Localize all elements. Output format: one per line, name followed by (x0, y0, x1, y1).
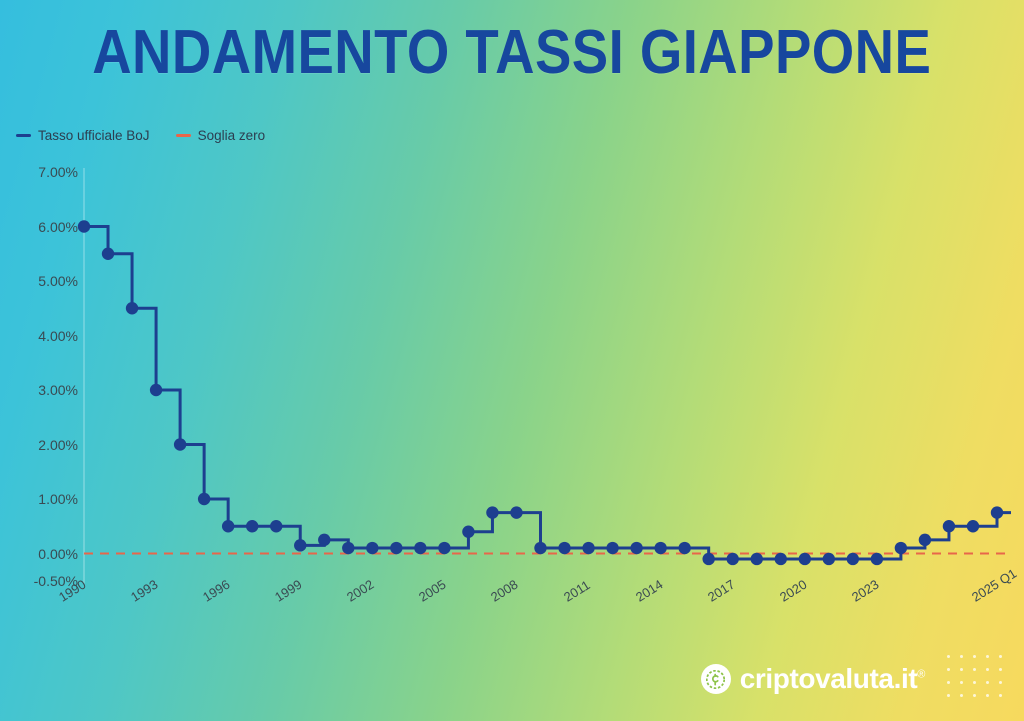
data-point-marker[interactable] (342, 542, 354, 554)
watermark-registered-mark: ® (917, 669, 925, 681)
data-point-marker[interactable] (871, 553, 883, 565)
data-point-marker[interactable] (751, 553, 763, 565)
watermark-dot (973, 681, 976, 684)
data-point-marker[interactable] (799, 553, 811, 565)
watermark-dot (986, 694, 989, 697)
data-point-marker[interactable] (919, 534, 931, 546)
data-point-marker[interactable] (991, 506, 1003, 518)
data-point-marker[interactable] (943, 520, 955, 532)
y-axis-tick-label: 6.00% (4, 219, 78, 235)
watermark-dot (986, 668, 989, 671)
watermark-dot (960, 655, 963, 658)
watermark-dot (999, 694, 1002, 697)
chart-root: ANDAMENTO TASSI GIAPPONE Tasso ufficiale… (0, 0, 1024, 721)
data-point-marker[interactable] (198, 493, 210, 505)
watermark-dot (947, 694, 950, 697)
data-point-marker[interactable] (967, 520, 979, 532)
watermark-dot (973, 668, 976, 671)
data-point-marker[interactable] (78, 220, 90, 232)
data-point-marker[interactable] (438, 542, 450, 554)
y-axis-tick-label: 0.00% (4, 546, 78, 562)
data-point-marker[interactable] (222, 520, 234, 532)
data-point-marker[interactable] (390, 542, 402, 554)
data-point-marker[interactable] (678, 542, 690, 554)
data-point-marker[interactable] (606, 542, 618, 554)
watermark-text: criptovaluta.it® (740, 663, 925, 695)
data-point-marker[interactable] (126, 302, 138, 314)
data-point-marker[interactable] (150, 384, 162, 396)
watermark-dot (960, 694, 963, 697)
watermark-dot (999, 668, 1002, 671)
watermark-dot (973, 655, 976, 658)
data-point-marker[interactable] (823, 553, 835, 565)
data-point-marker[interactable] (486, 506, 498, 518)
watermark-dot (960, 668, 963, 671)
y-axis-tick-label: 1.00% (4, 491, 78, 507)
data-point-marker[interactable] (366, 542, 378, 554)
crypto-coin-icon (701, 664, 731, 694)
watermark-dot (986, 655, 989, 658)
watermark-dot (973, 694, 976, 697)
data-point-marker[interactable] (414, 542, 426, 554)
plot-svg (0, 0, 1024, 721)
watermark-dot (999, 681, 1002, 684)
watermark-dot (960, 681, 963, 684)
data-point-marker[interactable] (775, 553, 787, 565)
watermark-dot (947, 681, 950, 684)
watermark-dot (999, 655, 1002, 658)
data-point-marker[interactable] (462, 526, 474, 538)
watermark-brand: criptovaluta.it® (701, 663, 925, 695)
watermark: criptovaluta.it® (701, 655, 1008, 703)
data-point-marker[interactable] (270, 520, 282, 532)
data-point-marker[interactable] (702, 553, 714, 565)
data-point-marker[interactable] (895, 542, 907, 554)
y-axis-tick-label: 4.00% (4, 328, 78, 344)
data-point-marker[interactable] (174, 438, 186, 450)
data-point-marker[interactable] (510, 506, 522, 518)
series-line-tasso-ufficiale-boj (84, 227, 1011, 559)
y-axis-tick-label: 2.00% (4, 437, 78, 453)
data-point-marker[interactable] (534, 542, 546, 554)
y-axis-tick-label: 5.00% (4, 273, 78, 289)
data-point-marker[interactable] (847, 553, 859, 565)
data-point-marker[interactable] (630, 542, 642, 554)
data-point-marker[interactable] (558, 542, 570, 554)
data-point-marker[interactable] (582, 542, 594, 554)
watermark-dot (947, 668, 950, 671)
watermark-dot (986, 681, 989, 684)
watermark-brand-name: criptovaluta.it (740, 663, 918, 694)
watermark-dot (947, 655, 950, 658)
plot-area: 7.00%6.00%5.00%4.00%3.00%2.00%1.00%0.00%… (0, 0, 1024, 721)
data-point-marker[interactable] (102, 248, 114, 260)
y-axis-tick-label: 3.00% (4, 382, 78, 398)
data-point-marker[interactable] (727, 553, 739, 565)
data-point-marker[interactable] (246, 520, 258, 532)
data-point-marker[interactable] (294, 539, 306, 551)
watermark-dot-grid (947, 655, 1008, 703)
y-axis-labels: 7.00%6.00%5.00%4.00%3.00%2.00%1.00%0.00%… (0, 0, 78, 721)
data-point-marker[interactable] (654, 542, 666, 554)
data-point-marker[interactable] (318, 534, 330, 546)
y-axis-tick-label: 7.00% (4, 164, 78, 180)
